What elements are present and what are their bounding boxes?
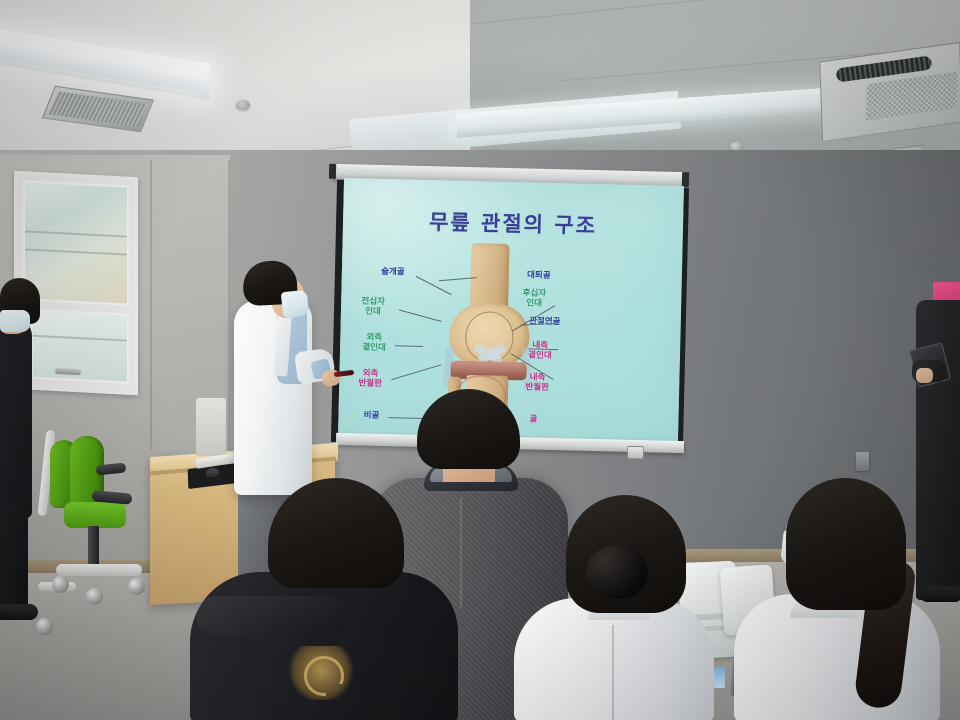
attendee-right-hand bbox=[916, 368, 933, 383]
attendee-right-shoe bbox=[920, 586, 960, 602]
screen-pull-knob[interactable] bbox=[627, 446, 644, 459]
face-mask-icon bbox=[0, 310, 30, 332]
attendee-left-legs bbox=[0, 500, 28, 618]
slide-label-lcl: 외측 곁인대 bbox=[352, 332, 396, 353]
seated-woman-ponytail-hair bbox=[786, 478, 906, 610]
slide-title: 무릎 관절의 구조 bbox=[343, 204, 684, 242]
id-badge bbox=[714, 668, 725, 688]
face-mask-icon bbox=[281, 290, 310, 319]
slide-label-mcl: 내측 곁인대 bbox=[518, 340, 562, 361]
vent-grill bbox=[49, 91, 147, 126]
chair-caster bbox=[128, 578, 145, 595]
chair-caster bbox=[36, 618, 53, 635]
lab-coat-seam bbox=[612, 625, 614, 720]
window-upper-pane bbox=[23, 180, 129, 306]
chair-seat bbox=[64, 502, 126, 528]
jacket-seam bbox=[460, 498, 462, 608]
projection-screen: 무릎 관절의 구조 슬개골 전십자 인대 외측 곁인대 외 bbox=[338, 178, 684, 444]
wall-outlet-icon bbox=[856, 452, 869, 471]
chair-caster bbox=[86, 588, 103, 605]
slide-label-medial-meniscus: 내측 반월판 bbox=[513, 372, 561, 393]
attendee-left-torso bbox=[0, 318, 32, 518]
pc-tower bbox=[196, 398, 226, 456]
leader-line bbox=[388, 417, 424, 419]
smoke-detector-icon bbox=[236, 100, 250, 110]
lecture-room-photo: 무릎 관절의 구조 슬개골 전십자 인대 외측 곁인대 외 bbox=[0, 0, 960, 720]
attendee-left-shoe bbox=[0, 604, 38, 620]
slide-label-acl: 전십자 인대 bbox=[349, 296, 397, 317]
jacket-shoulder-panel bbox=[196, 596, 346, 636]
slide-label-femur: 대퇴골 bbox=[516, 270, 562, 281]
chair-caster bbox=[52, 576, 69, 593]
leader-line bbox=[395, 345, 423, 347]
chair-gas-column bbox=[88, 526, 99, 566]
slide-label-patella: 슬개골 bbox=[370, 267, 416, 278]
wall-seam bbox=[150, 160, 152, 450]
slide-label-lateral-meniscus: 외측 반월판 bbox=[347, 368, 393, 389]
hair-bun bbox=[586, 545, 648, 599]
slide-label-articular-cartilage: 관절연골 bbox=[517, 316, 573, 327]
slide-label-fibula: 비골 bbox=[352, 410, 390, 421]
slide-label-tibia: 골 bbox=[516, 414, 550, 425]
slide-label-pcl: 후십자 인대 bbox=[511, 288, 557, 309]
chair-base bbox=[56, 564, 142, 576]
